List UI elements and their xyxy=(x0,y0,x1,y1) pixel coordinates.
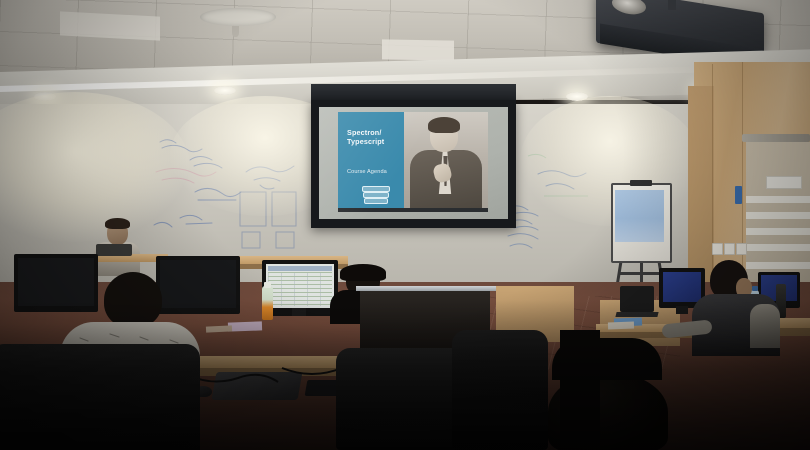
wall-switch[interactable] xyxy=(712,243,723,255)
slide-subtitle: Course Agenda xyxy=(347,169,405,175)
door-sign xyxy=(766,176,802,189)
cap-icon xyxy=(340,264,386,281)
person-hair xyxy=(105,218,130,229)
door-frosted-stripe xyxy=(746,196,810,203)
office-chair[interactable] xyxy=(336,348,466,450)
ceiling-light-panel xyxy=(382,39,454,60)
person-head xyxy=(104,272,162,328)
office-chair[interactable] xyxy=(452,330,548,450)
stacked-layers-logo xyxy=(362,186,390,208)
slide-bottom-bar xyxy=(338,208,488,212)
training-room-photo: Spectron/ Typescript Course Agenda xyxy=(0,0,810,450)
door-frosted-stripe xyxy=(746,244,810,251)
laptop-right xyxy=(620,286,654,312)
monitor-stand xyxy=(292,308,306,316)
wall-switch[interactable] xyxy=(724,243,735,255)
person-student-right xyxy=(690,260,782,356)
downlight xyxy=(34,92,56,101)
flipchart-crossbar xyxy=(618,272,663,275)
slide-photo xyxy=(404,112,488,212)
door-access-sticker xyxy=(735,186,742,204)
paper-stack[interactable] xyxy=(608,322,634,330)
flipchart-paper xyxy=(615,190,664,242)
door-frosted-stripe xyxy=(746,212,810,219)
projector-mount xyxy=(668,0,676,10)
slide-title: Spectron/ Typescript xyxy=(347,128,405,146)
door-closer-arm xyxy=(742,134,810,142)
spreadsheet-header-row xyxy=(268,266,332,271)
door-frosted-stripe xyxy=(746,228,810,235)
flipchart-clip xyxy=(630,180,652,186)
ceiling-vent xyxy=(200,8,276,26)
office-chair[interactable] xyxy=(0,344,200,450)
juice-bottle[interactable] xyxy=(262,286,273,320)
downlight xyxy=(566,92,588,101)
slide-title-line2: Typescript xyxy=(347,137,405,146)
person-sleeve xyxy=(750,304,780,348)
slide-title-line1: Spectron/ xyxy=(347,128,405,137)
sprinkler-head-icon xyxy=(232,26,239,37)
bottle-cap xyxy=(264,282,271,288)
spreadsheet-rows xyxy=(268,272,332,306)
laptop-back-left xyxy=(96,244,132,256)
cubicle-post xyxy=(560,330,600,448)
cubicle-rail xyxy=(356,286,496,291)
wall-switch[interactable] xyxy=(736,243,747,255)
photo-hair xyxy=(428,117,460,133)
presentation-slide: Spectron/ Typescript Course Agenda xyxy=(338,112,488,212)
paper-stack[interactable] xyxy=(228,321,262,331)
monitor-stand xyxy=(676,306,688,314)
laptop-keyboard[interactable] xyxy=(615,312,658,317)
downlight xyxy=(214,86,236,95)
